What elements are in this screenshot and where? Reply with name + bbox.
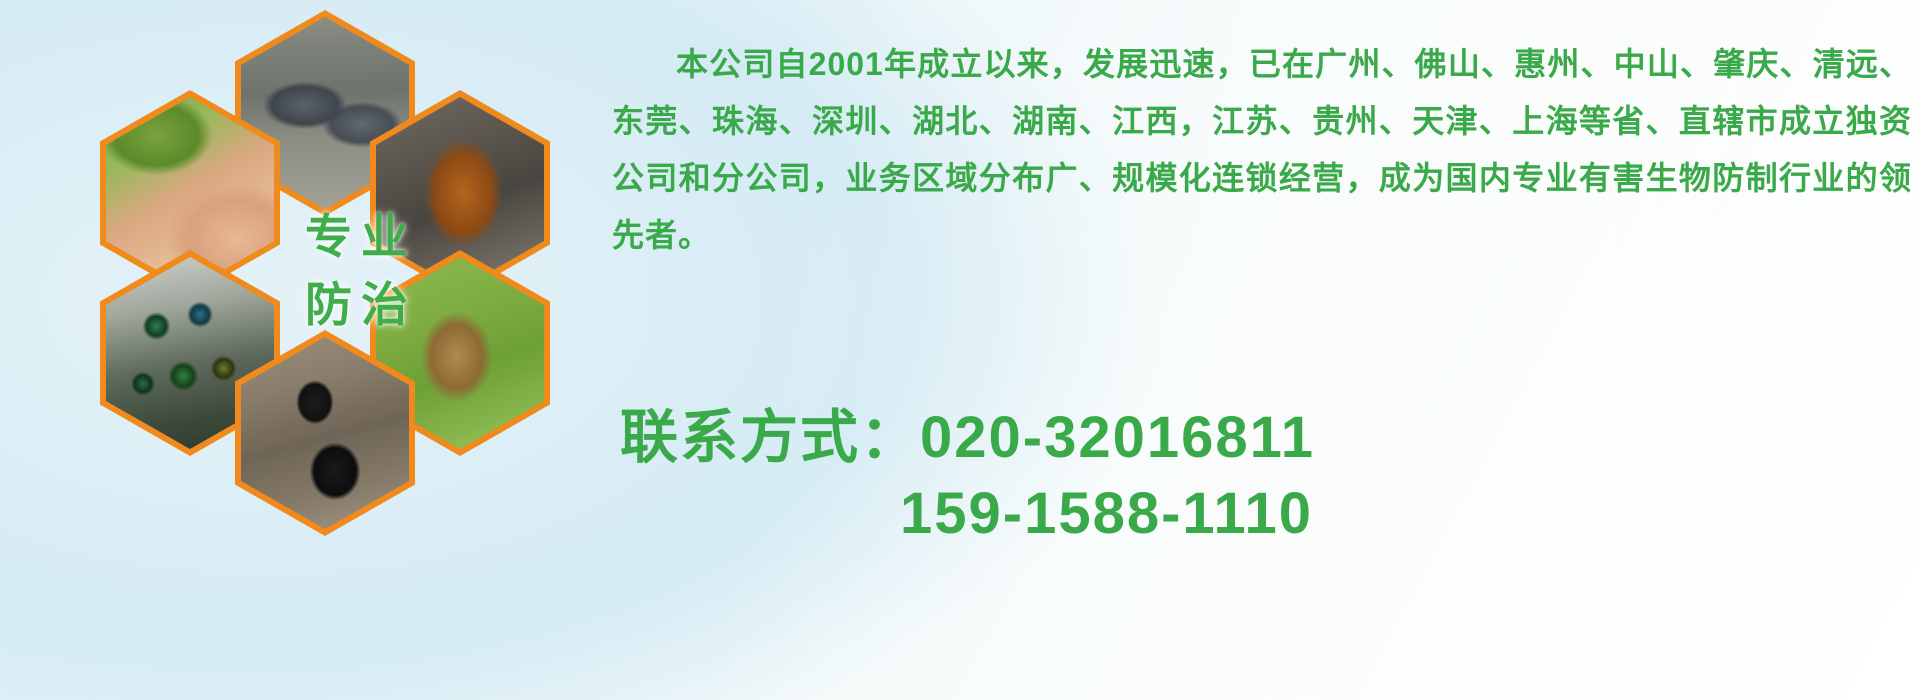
company-intro-banner: 专业 防治 本公司自2001年成立以来，发展迅速，已在广州、佛山、惠州、中山、肇… [0, 0, 1920, 700]
contact-landline-line: 联系方式：020-32016811 [620, 400, 1920, 476]
intro-paragraph: 本公司自2001年成立以来，发展迅速，已在广州、佛山、惠州、中山、肇庆、清远、东… [612, 36, 1912, 264]
contact-mobile-line: 159-1588-1110 [620, 476, 1920, 552]
ant-photo [241, 337, 409, 529]
company-intro-text: 本公司自2001年成立以来，发展迅速，已在广州、佛山、惠州、中山、肇庆、清远、东… [612, 36, 1912, 264]
contact-block: 联系方式：020-32016811 159-1588-1110 [620, 400, 1920, 552]
contact-label: 联系方式： [620, 405, 920, 470]
hex-inner-ant [241, 337, 409, 529]
contact-mobile-number[interactable]: 159-1588-1110 [900, 481, 1313, 546]
honeycomb-photo-collage: 专业 防治 [90, 10, 590, 570]
contact-landline-number[interactable]: 020-32016811 [920, 405, 1315, 470]
